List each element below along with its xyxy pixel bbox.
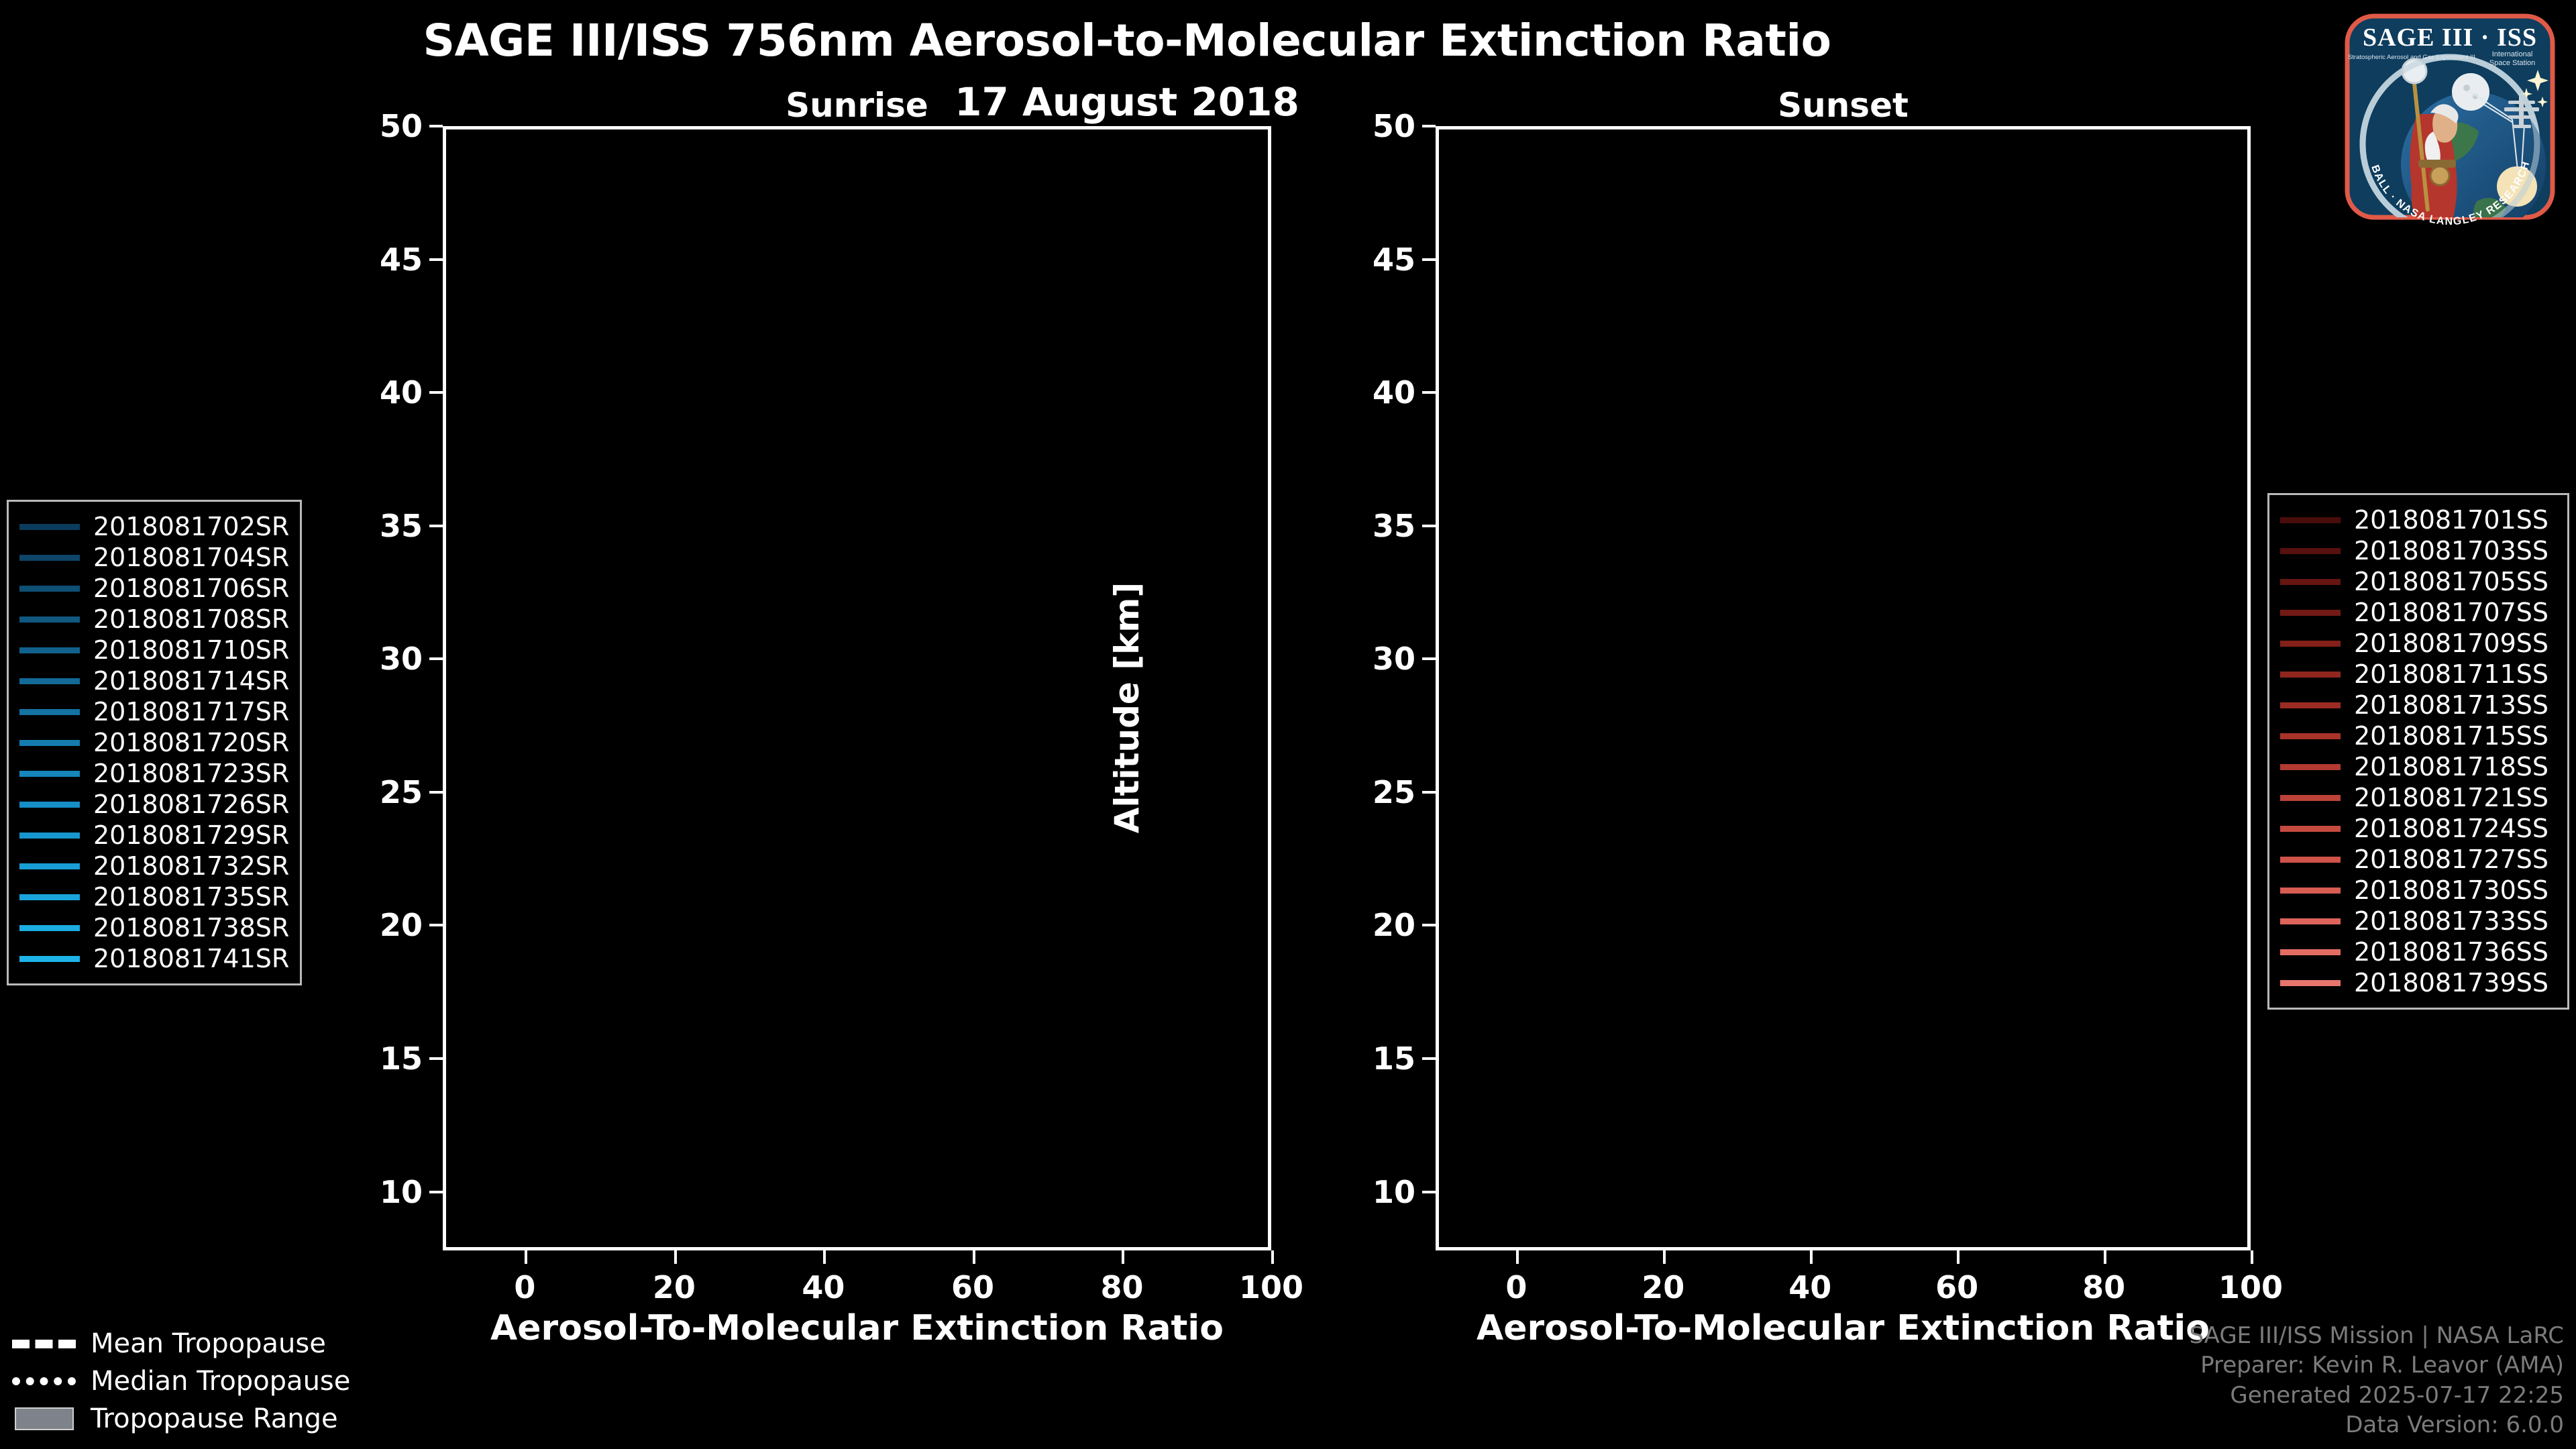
x-axis-tick-label: 0 <box>514 1269 535 1305</box>
legend-item-label: 2018081705SS <box>2354 567 2548 596</box>
legend-color-swatch <box>19 678 80 684</box>
legend-item-label: 2018081730SS <box>2354 875 2548 905</box>
y-axis-tick-label: 50 <box>1328 108 1415 144</box>
legend-item-label: 2018081715SS <box>2354 721 2548 751</box>
legend-item-label: 2018081726SR <box>93 790 289 819</box>
legend-entry-sunrise-item[interactable]: 2018081720SR <box>19 727 288 758</box>
legend-color-swatch <box>2280 857 2341 863</box>
legend-item-label: 2018081727SS <box>2354 845 2548 874</box>
y-axis-tick-mark <box>429 924 443 926</box>
legend-color-swatch <box>19 894 80 900</box>
legend-entry-sunset-item[interactable]: 2018081718SS <box>2280 751 2555 782</box>
legend-entry-sunset-item[interactable]: 2018081721SS <box>2280 782 2555 813</box>
gray-swatch-icon <box>12 1407 76 1430</box>
credits-preparer: Preparer: Kevin R. Leavor (AMA) <box>2189 1350 2564 1380</box>
legend-color-swatch <box>19 956 80 962</box>
legend-color-swatch <box>2280 949 2341 955</box>
legend-item-label: 2018081724SS <box>2354 814 2548 843</box>
legend-item-label: 2018081703SS <box>2354 536 2548 566</box>
legend-item-label: 2018081714SR <box>93 666 289 696</box>
legend-item-label: 2018081710SR <box>93 635 289 665</box>
legend-color-swatch <box>2280 888 2341 894</box>
legend-entry-sunset-item[interactable]: 2018081724SS <box>2280 813 2555 844</box>
x-axis-label-sunset: Aerosol-To-Molecular Extinction Ratio <box>1436 1308 2251 1348</box>
x-axis-tick-label: 20 <box>1642 1269 1684 1305</box>
dotted-line-icon <box>12 1377 76 1385</box>
legend-item-label: 2018081741SR <box>93 944 289 973</box>
svg-text:Stratospheric Aerosol and Gas: Stratospheric Aerosol and Gas Experiment… <box>2348 54 2475 61</box>
legend-color-swatch <box>19 647 80 653</box>
legend-entry-sunset-item[interactable]: 2018081739SS <box>2280 967 2555 998</box>
y-axis-tick-label: 25 <box>1328 774 1415 810</box>
credits-generated: Generated 2025-07-17 22:25 <box>2189 1381 2564 1410</box>
legend-color-swatch <box>19 524 80 530</box>
legend-color-swatch <box>19 586 80 592</box>
legend-entry-sunset-item[interactable]: 2018081727SS <box>2280 844 2555 875</box>
legend-color-swatch <box>19 616 80 623</box>
legend-item-label: 2018081706SR <box>93 574 289 603</box>
x-axis-label-sunrise: Aerosol-To-Molecular Extinction Ratio <box>443 1308 1271 1348</box>
x-axis-tick-mark <box>1516 1250 1519 1264</box>
svg-text:Space Station: Space Station <box>2489 59 2536 67</box>
y-axis-tick-label: 10 <box>335 1174 423 1210</box>
y-axis-tick-mark <box>429 391 443 394</box>
y-axis-tick-mark <box>429 258 443 261</box>
y-axis-tick-mark <box>1422 1191 1436 1193</box>
legend-item-label: 2018081732SR <box>93 851 289 881</box>
legend-color-swatch <box>19 863 80 869</box>
x-axis-tick-mark <box>1122 1250 1124 1264</box>
legend-entry-sunset-item[interactable]: 2018081709SS <box>2280 628 2555 659</box>
x-axis-tick-label: 60 <box>951 1269 994 1305</box>
legend-item-label: 2018081708SR <box>93 604 289 634</box>
y-axis-tick-mark <box>429 791 443 794</box>
y-axis-tick-mark <box>429 525 443 527</box>
legend-item-median-tropopause: Median Tropopause <box>12 1362 388 1400</box>
x-axis-tick-mark <box>674 1250 677 1264</box>
dashed-line-icon <box>12 1340 76 1348</box>
y-axis-tick-mark <box>1422 258 1436 261</box>
legend-item-label: 2018081717SR <box>93 697 289 727</box>
legend-sunrise[interactable]: 2018081702SR2018081704SR2018081706SR2018… <box>7 500 302 985</box>
legend-entry-sunrise-item[interactable]: 2018081708SR <box>19 604 288 635</box>
legend-entry-sunrise-item[interactable]: 2018081732SR <box>19 851 288 881</box>
legend-color-swatch <box>2280 733 2341 739</box>
y-axis-tick-mark <box>1422 525 1436 527</box>
x-axis-tick-label: 0 <box>1505 1269 1527 1305</box>
x-axis-tick-mark <box>823 1250 826 1264</box>
legend-color-swatch <box>19 740 80 746</box>
x-axis-tick-mark <box>1271 1250 1274 1264</box>
legend-color-swatch <box>2280 641 2341 647</box>
x-axis-tick-label: 80 <box>2082 1269 2125 1305</box>
svg-text:International: International <box>2492 50 2533 58</box>
x-axis-tick-label: 20 <box>653 1269 696 1305</box>
y-axis-tick-label: 20 <box>335 907 423 943</box>
legend-item-label: 2018081723SR <box>93 759 289 788</box>
legend-entry-sunset-item[interactable]: 2018081705SS <box>2280 566 2555 597</box>
legend-entry-sunrise-item[interactable]: 2018081741SR <box>19 943 288 974</box>
legend-entry-sunrise-item[interactable]: 2018081714SR <box>19 665 288 696</box>
x-axis-tick-label: 60 <box>1935 1269 1978 1305</box>
legend-color-swatch <box>2280 702 2341 708</box>
plot-frame-sunset <box>1436 126 2251 1250</box>
plot-frame-sunrise <box>443 126 1271 1250</box>
legend-entry-sunrise-item[interactable]: 2018081702SR <box>19 511 288 542</box>
legend-item-label: 2018081735SR <box>93 882 289 912</box>
x-axis-tick-label: 80 <box>1100 1269 1143 1305</box>
legend-item-label: 2018081704SR <box>93 543 289 572</box>
legend-item-label: 2018081738SR <box>93 913 289 943</box>
legend-entry-sunrise-item[interactable]: 2018081729SR <box>19 820 288 851</box>
legend-entry-sunrise-item[interactable]: 2018081710SR <box>19 635 288 665</box>
x-axis-tick-mark <box>1810 1250 1813 1264</box>
legend-entry-sunset-item[interactable]: 2018081703SS <box>2280 535 2555 566</box>
x-axis-tick-label: 100 <box>2218 1269 2283 1305</box>
plot-panel-sunset <box>1436 126 2251 1250</box>
y-axis-tick-label: 35 <box>1328 508 1415 544</box>
legend-color-swatch <box>2280 826 2341 832</box>
legend-entry-sunset-item[interactable]: 2018081736SS <box>2280 936 2555 967</box>
legend-entry-sunrise-item[interactable]: 2018081735SR <box>19 881 288 912</box>
legend-entry-sunset-item[interactable]: 2018081713SS <box>2280 690 2555 720</box>
legend-color-swatch <box>19 771 80 777</box>
y-axis-tick-label: 40 <box>1328 374 1415 411</box>
y-axis-tick-label: 45 <box>1328 241 1415 278</box>
y-axis-tick-mark <box>429 1191 443 1193</box>
svg-text:SAGE III · ISS: SAGE III · ISS <box>2363 23 2537 52</box>
legend-color-swatch <box>2280 548 2341 554</box>
y-axis-tick-label: 30 <box>335 641 423 677</box>
legend-item-label: 2018081718SS <box>2354 752 2548 782</box>
legend-color-swatch <box>19 709 80 715</box>
legend-sunset[interactable]: 2018081701SS2018081703SS2018081705SS2018… <box>2267 493 2569 1010</box>
legend-entry-sunrise-item[interactable]: 2018081706SR <box>19 573 288 604</box>
legend-color-swatch <box>19 802 80 808</box>
legend-item-label: 2018081720SR <box>93 728 289 757</box>
y-axis-tick-label: 20 <box>1328 907 1415 943</box>
x-axis-tick-label: 40 <box>1788 1269 1831 1305</box>
x-axis-tick-mark <box>1663 1250 1666 1264</box>
legend-item-label: 2018081702SR <box>93 512 289 541</box>
legend-entry-sunset-item[interactable]: 2018081707SS <box>2280 597 2555 628</box>
y-axis-tick-label: 40 <box>335 374 423 411</box>
y-axis-tick-mark <box>1422 125 1436 127</box>
legend-item-label: 2018081709SS <box>2354 629 2548 658</box>
legend-color-swatch <box>19 833 80 839</box>
legend-color-swatch <box>2280 795 2341 801</box>
credits-data-version: Data Version: 6.0.0 <box>2189 1410 2564 1440</box>
legend-color-swatch <box>2280 980 2341 986</box>
sage-iii-iss-mission-patch-logo: SAGE III · ISS Stratospheric Aerosol and… <box>2339 7 2561 228</box>
x-axis-tick-label: 100 <box>1239 1269 1303 1305</box>
y-axis-tick-mark <box>1422 924 1436 926</box>
legend-color-swatch <box>2280 517 2341 523</box>
panel-title-sunset: Sunset <box>1436 86 2251 125</box>
y-axis-tick-mark <box>1422 791 1436 794</box>
legend-color-swatch <box>2280 764 2341 770</box>
legend-entry-sunrise-item[interactable]: 2018081717SR <box>19 696 288 727</box>
median-tropopause-label: Median Tropopause <box>91 1366 350 1397</box>
y-axis-tick-mark <box>1422 1057 1436 1060</box>
panel-title-sunrise: Sunrise <box>443 86 1271 125</box>
legend-item-label: 2018081729SR <box>93 820 289 850</box>
y-axis-tick-mark <box>1422 657 1436 660</box>
x-axis-tick-mark <box>973 1250 975 1264</box>
legend-item-label: 2018081739SS <box>2354 968 2548 998</box>
legend-item-label: 2018081733SS <box>2354 906 2548 936</box>
credits-mission: SAGE III/ISS Mission | NASA LaRC <box>2189 1321 2564 1350</box>
legend-entry-sunset-item[interactable]: 2018081730SS <box>2280 875 2555 906</box>
legend-entry-sunrise-item[interactable]: 2018081726SR <box>19 789 288 820</box>
legend-entry-sunrise-item[interactable]: 2018081738SR <box>19 912 288 943</box>
legend-item-label: 2018081707SS <box>2354 598 2548 627</box>
tropopause-legend: Mean Tropopause Median Tropopause Tropop… <box>12 1325 388 1438</box>
y-axis-tick-label: 25 <box>335 774 423 810</box>
y-axis-tick-label: 50 <box>335 108 423 144</box>
legend-entry-sunrise-item[interactable]: 2018081723SR <box>19 758 288 789</box>
legend-item-label: 2018081721SS <box>2354 783 2548 812</box>
tropopause-range-label: Tropopause Range <box>91 1403 338 1434</box>
x-axis-tick-mark <box>2251 1250 2253 1264</box>
plot-panel-sunrise <box>443 126 1271 1250</box>
legend-item-mean-tropopause: Mean Tropopause <box>12 1325 388 1362</box>
legend-color-swatch <box>2280 918 2341 924</box>
y-axis-tick-label: 10 <box>1328 1174 1415 1210</box>
mean-tropopause-label: Mean Tropopause <box>91 1328 326 1359</box>
legend-entry-sunset-item[interactable]: 2018081711SS <box>2280 659 2555 690</box>
y-axis-tick-mark <box>429 657 443 660</box>
legend-color-swatch <box>19 555 80 561</box>
y-axis-tick-mark <box>429 1057 443 1060</box>
legend-item-label: 2018081736SS <box>2354 937 2548 967</box>
y-axis-tick-mark <box>429 125 443 127</box>
y-axis-tick-label: 45 <box>335 241 423 278</box>
legend-entry-sunset-item[interactable]: 2018081715SS <box>2280 720 2555 751</box>
legend-color-swatch <box>19 925 80 931</box>
x-axis-tick-mark <box>525 1250 527 1264</box>
legend-entry-sunset-item[interactable]: 2018081733SS <box>2280 906 2555 936</box>
y-axis-label-sunset: Altitude [km] <box>1108 533 1146 882</box>
y-axis-tick-mark <box>1422 391 1436 394</box>
y-axis-tick-label: 35 <box>335 508 423 544</box>
legend-item-tropopause-range: Tropopause Range <box>12 1400 388 1438</box>
y-axis-tick-label: 15 <box>1328 1040 1415 1077</box>
legend-color-swatch <box>2280 672 2341 678</box>
legend-entry-sunset-item[interactable]: 2018081701SS <box>2280 504 2555 535</box>
legend-entry-sunrise-item[interactable]: 2018081704SR <box>19 542 288 573</box>
legend-item-label: 2018081701SS <box>2354 505 2548 535</box>
y-axis-tick-label: 30 <box>1328 641 1415 677</box>
legend-item-label: 2018081713SS <box>2354 690 2548 720</box>
x-axis-tick-mark <box>2104 1250 2106 1264</box>
credits-block: SAGE III/ISS Mission | NASA LaRC Prepare… <box>2189 1321 2564 1440</box>
legend-color-swatch <box>2280 579 2341 585</box>
legend-item-label: 2018081711SS <box>2354 659 2548 689</box>
x-axis-tick-mark <box>1957 1250 1960 1264</box>
y-axis-tick-label: 15 <box>335 1040 423 1077</box>
x-axis-tick-label: 40 <box>802 1269 845 1305</box>
legend-color-swatch <box>2280 610 2341 616</box>
page-title: SAGE III/ISS 756nm Aerosol-to-Molecular … <box>0 15 2254 66</box>
